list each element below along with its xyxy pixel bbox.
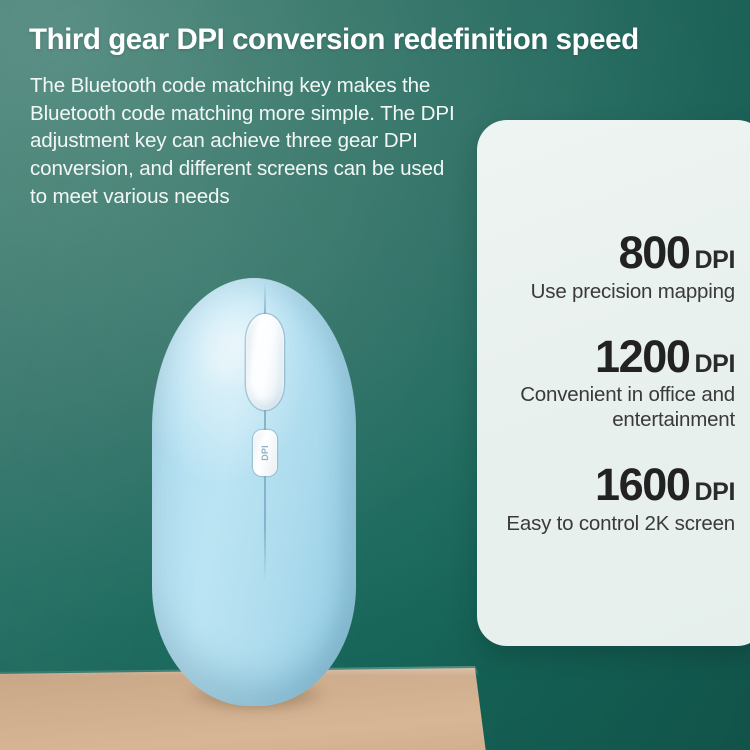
page-title: Third gear DPI conversion redefinition s…	[29, 24, 729, 56]
dpi-value-row: 1600 DPI	[477, 462, 735, 508]
body-paragraph: The Bluetooth code matching key makes th…	[30, 72, 460, 210]
dpi-unit: DPI	[695, 246, 735, 275]
mouse-dpi-button-label: DPI	[260, 445, 270, 461]
dpi-description: Use precision mapping	[477, 279, 735, 304]
product-marketing-banner: DPI Third gear DPI conversion redefiniti…	[0, 0, 750, 750]
dpi-unit: DPI	[695, 350, 735, 379]
dpi-item-1200: 1200 DPI Convenient in office and entert…	[477, 334, 745, 433]
mouse-body: DPI	[152, 278, 356, 706]
mouse-scroll-wheel	[246, 314, 284, 410]
dpi-description: Convenient in office and entertainment	[477, 382, 735, 432]
dpi-number: 1200	[595, 334, 690, 380]
dpi-specs-card: 800 DPI Use precision mapping 1200 DPI C…	[477, 120, 750, 646]
dpi-value-row: 800 DPI	[477, 230, 735, 276]
mouse-dpi-button: DPI	[253, 430, 277, 476]
dpi-unit: DPI	[695, 478, 735, 507]
dpi-description: Easy to control 2K screen	[477, 511, 735, 536]
dpi-item-1600: 1600 DPI Easy to control 2K screen	[477, 462, 745, 536]
product-image-mouse: DPI	[150, 276, 358, 716]
dpi-number: 800	[619, 230, 690, 276]
dpi-number: 1600	[595, 462, 690, 508]
dpi-value-row: 1200 DPI	[477, 334, 735, 380]
dpi-item-800: 800 DPI Use precision mapping	[477, 230, 745, 304]
